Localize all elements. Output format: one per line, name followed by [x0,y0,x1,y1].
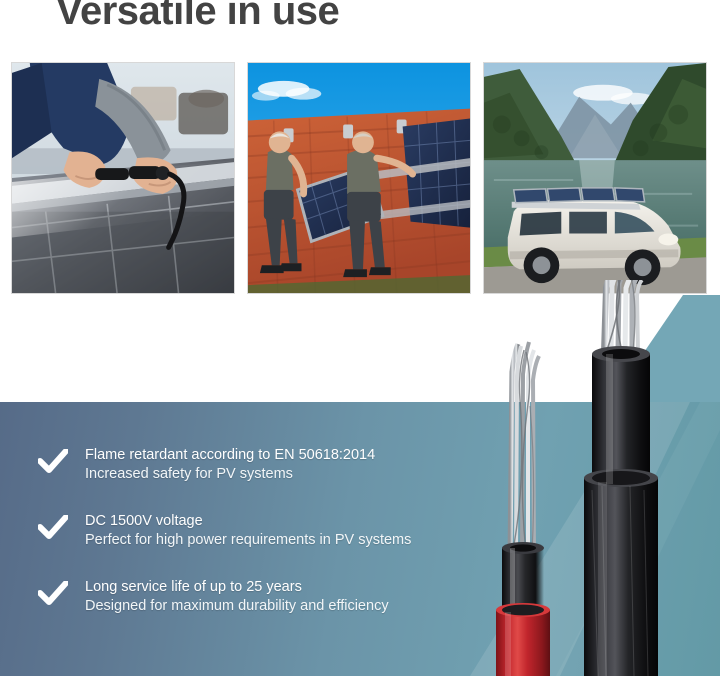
page-title: Versatile in use [56,0,339,34]
feature-item: Long service life of up to 25 years Desi… [38,578,498,618]
feature-subline: Designed for maximum durability and effi… [85,597,498,616]
feature-item: Flame retardant according to EN 50618:20… [38,446,498,486]
feature-list: Flame retardant according to EN 50618:20… [38,446,498,644]
feature-headline: Flame retardant according to EN 50618:20… [85,446,498,465]
gallery-photo-camper-van [483,62,707,294]
feature-item: DC 1500V voltage Perfect for high power … [38,512,498,552]
check-icon [38,449,68,475]
feature-subline: Perfect for high power requirements in P… [85,531,498,550]
feature-headline: Long service life of up to 25 years [85,578,498,597]
check-icon [38,515,68,541]
gallery-photo-installer [11,62,235,294]
gallery-photo-roof-install [247,62,471,294]
feature-subline: Increased safety for PV systems [85,465,498,484]
feature-headline: DC 1500V voltage [85,512,498,531]
check-icon [38,581,68,607]
photo-gallery [11,62,709,294]
marketing-page: Versatile in use [0,0,720,676]
